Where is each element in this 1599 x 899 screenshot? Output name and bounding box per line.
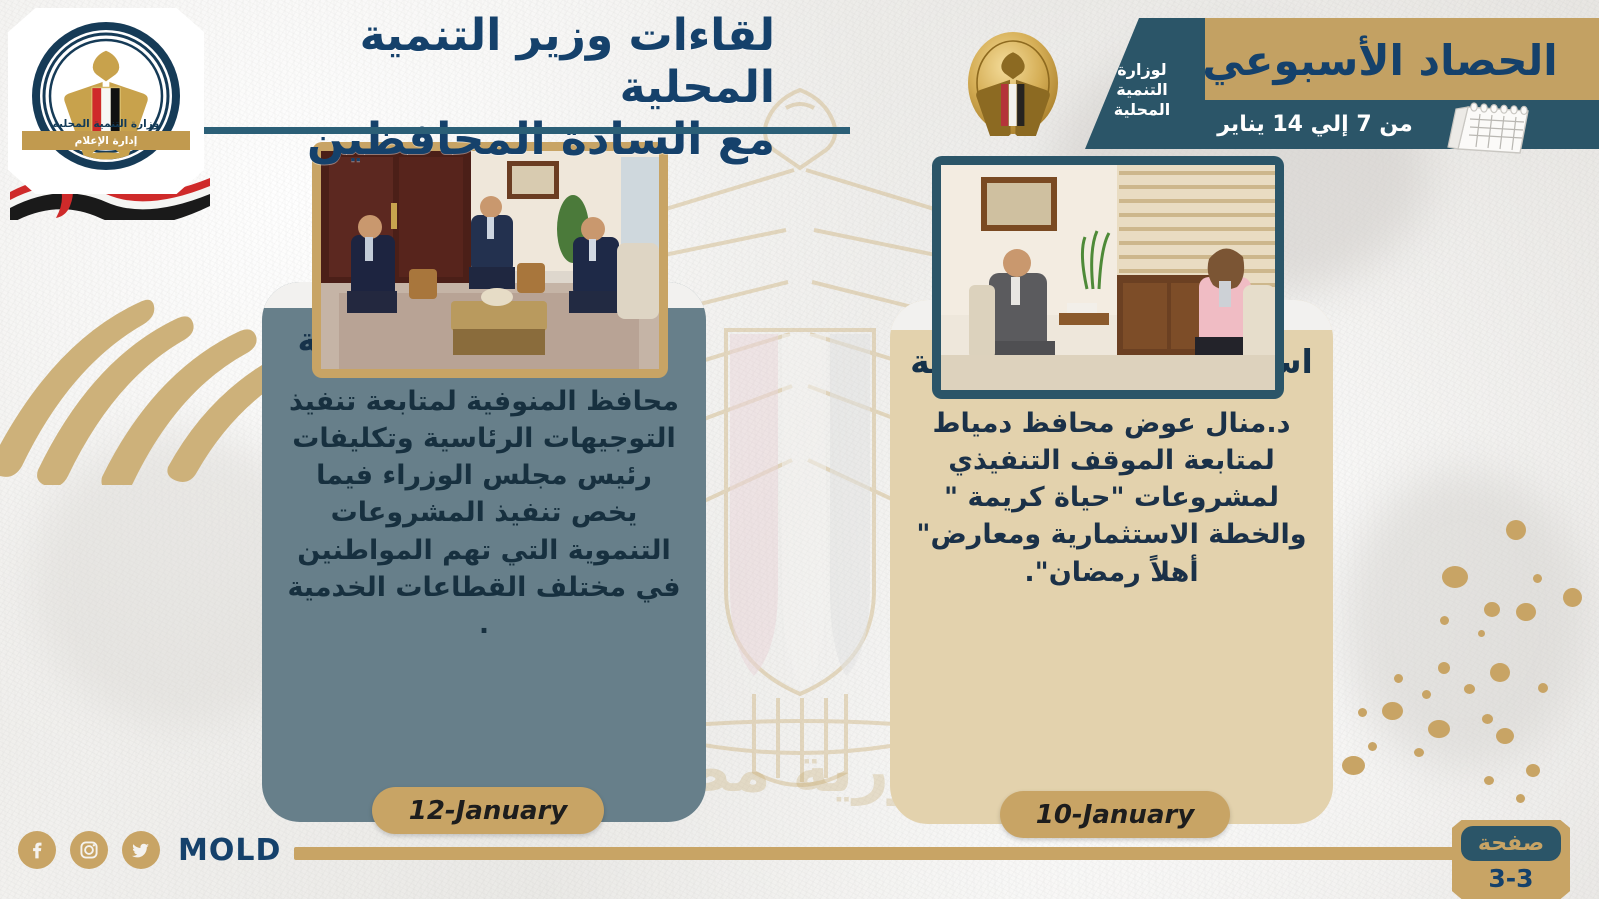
card-left-body: محافظ المنوفية لمتابعة تنفيذ التوجيهات ا…: [262, 383, 706, 644]
card-right-body: د.منال عوض محافظ دمياط لمتابعة الموقف ال…: [890, 405, 1333, 591]
footer-rule: [294, 847, 1454, 860]
seal-department-bar: إدارة الإعلام: [22, 131, 190, 150]
header-title-line-2: مع السادة المحافظين: [215, 114, 775, 166]
card-left-photo: [321, 151, 659, 369]
card-right-date-badge: 10-January: [1000, 791, 1230, 838]
brand-label: MOLD: [178, 833, 281, 868]
government-medal-icon: [965, 30, 1061, 136]
card-left-photo-frame: [312, 142, 668, 378]
page-number: 3-3: [1452, 864, 1570, 893]
banner-date-range: من 7 إلي 14 يناير: [1190, 102, 1440, 146]
facebook-icon[interactable]: [18, 831, 56, 869]
instagram-icon[interactable]: [70, 831, 108, 869]
header-title-line-1: لقاءات وزير التنمية المحلية: [215, 10, 775, 114]
card-right-photo-frame: [932, 156, 1284, 399]
seal-ministry-name: وزارة التنمية المحلية: [26, 118, 186, 130]
banner-ministry-label: لوزارة التنمية المحلية: [1098, 60, 1186, 120]
page-label: صفحة: [1461, 826, 1561, 861]
calendar-icon: [1442, 97, 1540, 155]
infographic-poster: جمهورية مصر العربية: [0, 0, 1599, 899]
card-right-photo: [941, 165, 1275, 390]
seal-department-label: إدارة الإعلام: [75, 135, 138, 147]
page-badge: صفحة 3-3: [1452, 820, 1570, 899]
twitter-icon[interactable]: [122, 831, 160, 869]
card-left-date-badge: 12-January: [372, 787, 604, 834]
header-title: لقاءات وزير التنمية المحلية مع السادة ال…: [215, 10, 775, 166]
ministry-seal-icon: [8, 8, 204, 194]
banner-title: الحصاد الأسبوعي: [1185, 30, 1575, 90]
background-smudge: [1340, 470, 1590, 770]
